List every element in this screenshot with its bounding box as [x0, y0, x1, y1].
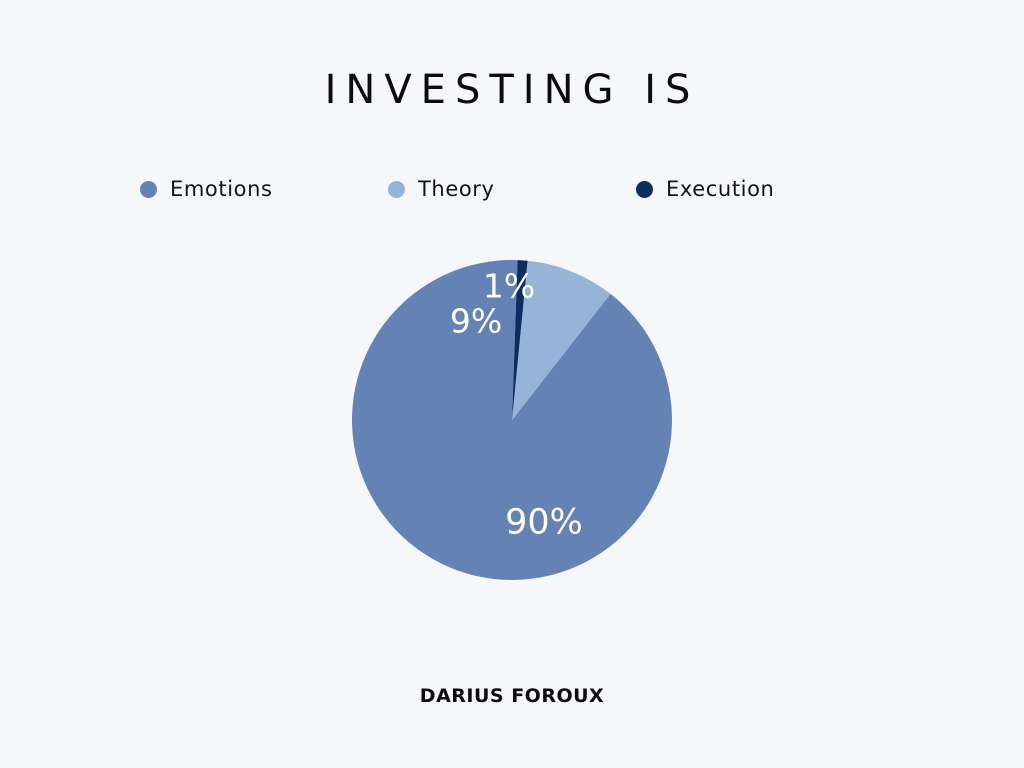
legend-item-label: Execution	[666, 179, 774, 200]
legend-item-label: Emotions	[170, 179, 273, 200]
circle-swatch-icon	[388, 181, 405, 198]
pie-slice-emotions[interactable]	[352, 260, 672, 580]
page-title: INVESTING IS	[0, 70, 1024, 110]
circle-swatch-icon	[140, 181, 157, 198]
chart-legend: Emotions Theory Execution	[0, 179, 1024, 200]
legend-item-execution[interactable]: Execution	[636, 179, 884, 200]
circle-swatch-icon	[636, 181, 653, 198]
pie-chart-svg	[352, 260, 672, 580]
slide-canvas: INVESTING IS Emotions Theory Execution 9…	[0, 0, 1024, 768]
pie-slice-group	[352, 260, 672, 580]
pie-chart: 90% 9% 1%	[352, 260, 672, 580]
legend-item-emotions[interactable]: Emotions	[140, 179, 388, 200]
legend-item-label: Theory	[418, 179, 495, 200]
legend-item-theory[interactable]: Theory	[388, 179, 636, 200]
author-signature: DARIUS FOROUX	[0, 687, 1024, 706]
